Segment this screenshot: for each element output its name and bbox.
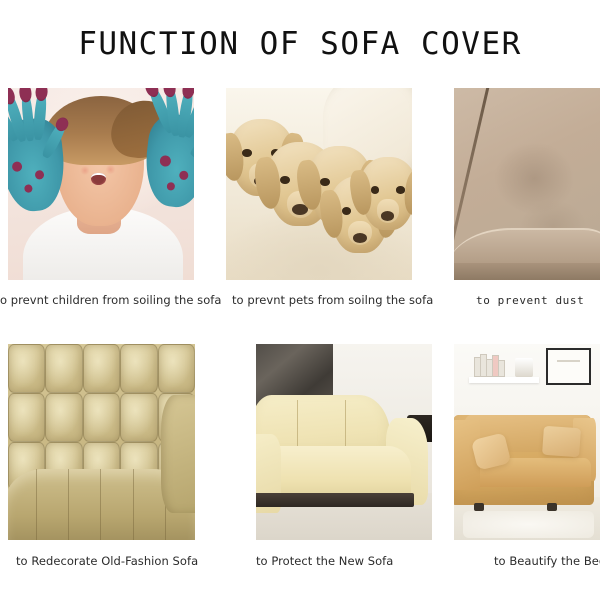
caption-protect-new-sofa: to Protect the New Sofa bbox=[256, 554, 393, 568]
image-dusty-beige-sofa-cushion[interactable] bbox=[454, 88, 600, 280]
caption-prevent-dust: to prevent dust bbox=[476, 294, 584, 307]
image-worn-tan-leather-tufted-sofa[interactable] bbox=[8, 344, 195, 540]
shelf-decor-object bbox=[515, 358, 533, 378]
panel-protect-new-sofa[interactable]: to Protect the New Sofa bbox=[256, 344, 432, 574]
slipcovered-sofa bbox=[454, 415, 594, 505]
sofa-armrest bbox=[161, 395, 195, 513]
child-mouth bbox=[91, 173, 106, 185]
image-golden-puppies-on-sofa[interactable] bbox=[226, 88, 412, 280]
panel-beautify-bedroom[interactable]: to Beautify the Bedroom bbox=[454, 344, 600, 574]
panel-prevent-pets[interactable]: to prevnt pets from soilng the sofa bbox=[226, 88, 412, 313]
sofa-leg-left bbox=[474, 503, 484, 511]
wall-shelf bbox=[469, 377, 539, 383]
cheek-left bbox=[80, 166, 90, 175]
image-child-with-painted-hands[interactable] bbox=[8, 88, 194, 280]
area-rug bbox=[463, 511, 594, 538]
puppy-5 bbox=[360, 157, 412, 230]
throw-pillow-right bbox=[542, 426, 581, 457]
panel-prevent-children[interactable]: o prevnt children from soiling the sofa bbox=[8, 88, 194, 313]
sofa-shadow-base bbox=[454, 263, 600, 280]
sofa-leg-right bbox=[547, 503, 557, 511]
panel-grid: o prevnt children from soiling the sofa bbox=[0, 82, 600, 582]
caption-beautify-bedroom: to Beautify the Bedroom bbox=[494, 554, 600, 568]
framed-picture bbox=[546, 348, 591, 385]
sofa-base bbox=[256, 493, 414, 507]
caption-prevent-pets: to prevnt pets from soilng the sofa bbox=[232, 293, 433, 307]
cheek-right bbox=[105, 165, 115, 174]
image-camel-slipcovered-sofa-in-bedroom[interactable] bbox=[454, 344, 600, 540]
page-title: FUNCTION OF SOFA COVER bbox=[0, 26, 600, 62]
caption-prevent-children: o prevnt children from soiling the sofa bbox=[0, 293, 221, 307]
image-cream-leather-sofa-in-living-room[interactable] bbox=[256, 344, 432, 540]
shelf-books bbox=[474, 354, 506, 378]
caption-redecorate-old-sofa: to Redecorate Old-Fashion Sofa bbox=[16, 554, 198, 568]
panel-redecorate-old-sofa[interactable]: to Redecorate Old-Fashion Sofa bbox=[8, 344, 195, 574]
panel-prevent-dust[interactable]: to prevent dust bbox=[454, 88, 600, 313]
